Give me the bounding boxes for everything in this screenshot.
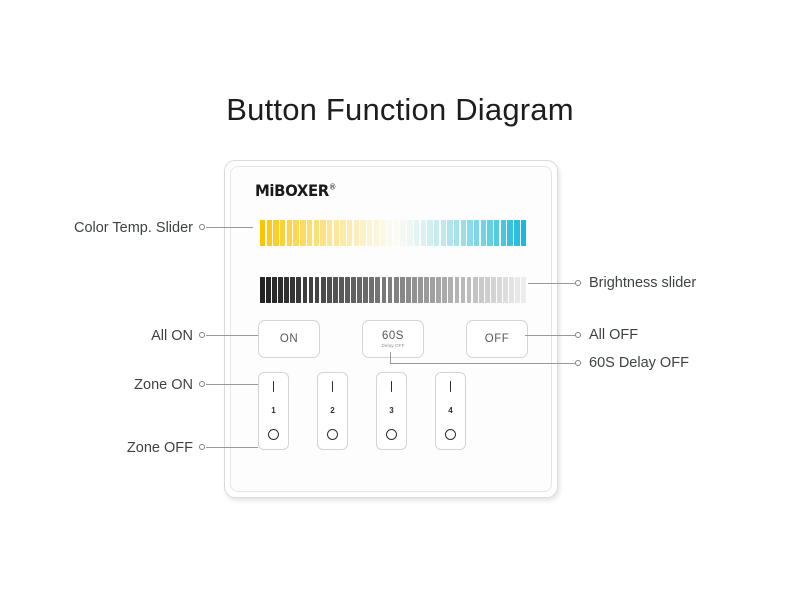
color-temp-slider-segment[interactable] xyxy=(434,220,439,246)
callout-zone-on-marker xyxy=(199,381,205,387)
all-off-button-label: OFF xyxy=(485,333,510,345)
color-temp-slider-segment[interactable] xyxy=(407,220,412,246)
brightness-slider-segment[interactable] xyxy=(442,277,447,303)
brightness-slider-segment[interactable] xyxy=(284,277,289,303)
brightness-slider-segment[interactable] xyxy=(394,277,399,303)
brightness-slider-segment[interactable] xyxy=(509,277,514,303)
color-temp-slider-segment[interactable] xyxy=(494,220,499,246)
callout-brightness-slider-label: Brightness slider xyxy=(589,275,696,291)
brightness-slider-segment[interactable] xyxy=(497,277,502,303)
color-temp-slider-segment[interactable] xyxy=(427,220,432,246)
page-title: Button Function Diagram xyxy=(0,92,800,128)
zone-on-icon[interactable] xyxy=(332,381,334,392)
zone-off-icon[interactable] xyxy=(386,429,397,440)
brightness-slider-segment[interactable] xyxy=(436,277,441,303)
callout-delay-off-leader-vertical xyxy=(390,352,391,363)
brightness-slider-segment[interactable] xyxy=(357,277,362,303)
all-on-button[interactable]: ON xyxy=(258,320,320,358)
color-temp-slider-segment[interactable] xyxy=(293,220,298,246)
brightness-slider-segment[interactable] xyxy=(272,277,277,303)
color-temp-slider-segment[interactable] xyxy=(514,220,519,246)
brightness-slider-segment[interactable] xyxy=(382,277,387,303)
brightness-slider-segment[interactable] xyxy=(448,277,453,303)
brightness-slider-segment[interactable] xyxy=(260,277,265,303)
zone-button-2[interactable]: 2 xyxy=(317,372,348,450)
callout-all-off-label: All OFF xyxy=(589,327,638,343)
zone-number-label: 1 xyxy=(271,406,275,415)
color-temp-slider-segment[interactable] xyxy=(320,220,325,246)
callout-zone-off-label: Zone OFF xyxy=(73,440,193,456)
color-temp-slider-segment[interactable] xyxy=(367,220,372,246)
color-temp-slider-segment[interactable] xyxy=(347,220,352,246)
zone-button-3[interactable]: 3 xyxy=(376,372,407,450)
color-temp-slider-segment[interactable] xyxy=(273,220,278,246)
brightness-slider-segment[interactable] xyxy=(503,277,508,303)
color-temp-slider-segment[interactable] xyxy=(340,220,345,246)
color-temp-slider-segment[interactable] xyxy=(307,220,312,246)
brightness-slider-segment[interactable] xyxy=(521,277,526,303)
brightness-slider-segment[interactable] xyxy=(369,277,374,303)
color-temp-slider-segment[interactable] xyxy=(267,220,272,246)
zone-off-icon[interactable] xyxy=(445,429,456,440)
brightness-slider-segment[interactable] xyxy=(345,277,350,303)
brightness-slider-segment[interactable] xyxy=(309,277,314,303)
all-off-button[interactable]: OFF xyxy=(466,320,528,358)
color-temp-slider-segment[interactable] xyxy=(521,220,526,246)
color-temp-slider-segment[interactable] xyxy=(387,220,392,246)
brightness-slider-segment[interactable] xyxy=(303,277,308,303)
brightness-slider-segment[interactable] xyxy=(412,277,417,303)
color-temp-slider-segment[interactable] xyxy=(394,220,399,246)
color-temp-slider-segment[interactable] xyxy=(400,220,405,246)
callout-brightness-slider-leader xyxy=(528,283,575,284)
zone-off-icon[interactable] xyxy=(327,429,338,440)
zone-number-label: 2 xyxy=(330,406,334,415)
brightness-slider[interactable] xyxy=(260,277,526,303)
all-on-button-label: ON xyxy=(280,333,298,345)
zone-on-icon[interactable] xyxy=(273,381,275,392)
color-temp-slider-segment[interactable] xyxy=(441,220,446,246)
callout-all-on-leader xyxy=(206,335,258,336)
brightness-slider-segment[interactable] xyxy=(424,277,429,303)
brightness-slider-segment[interactable] xyxy=(388,277,393,303)
color-temp-slider-segment[interactable] xyxy=(447,220,452,246)
color-temp-slider-segment[interactable] xyxy=(487,220,492,246)
callout-zone-off-marker xyxy=(199,444,205,450)
brightness-slider-segment[interactable] xyxy=(315,277,320,303)
delay-off-button-label: 60S xyxy=(382,330,404,342)
brightness-slider-segment[interactable] xyxy=(418,277,423,303)
brightness-slider-segment[interactable] xyxy=(375,277,380,303)
color-temp-slider-segment[interactable] xyxy=(507,220,512,246)
color-temp-slider-segment[interactable] xyxy=(360,220,365,246)
delay-off-button[interactable]: 60S Delay OFF xyxy=(362,320,424,358)
color-temp-slider-segment[interactable] xyxy=(334,220,339,246)
callout-delay-off-leader xyxy=(390,363,575,364)
color-temp-slider-segment[interactable] xyxy=(414,220,419,246)
color-temp-slider-segment[interactable] xyxy=(461,220,466,246)
callout-brightness-slider-marker xyxy=(575,280,581,286)
brightness-slider-segment[interactable] xyxy=(400,277,405,303)
callout-delay-off-marker xyxy=(575,360,581,366)
color-temp-slider-segment[interactable] xyxy=(467,220,472,246)
color-temp-slider-segment[interactable] xyxy=(354,220,359,246)
command-button-row: ON 60S Delay OFF OFF xyxy=(258,320,528,358)
color-temp-slider-segment[interactable] xyxy=(374,220,379,246)
color-temp-slider-segment[interactable] xyxy=(421,220,426,246)
callout-color-temp-slider-marker xyxy=(199,224,205,230)
brightness-slider-segment[interactable] xyxy=(406,277,411,303)
brightness-slider-segment[interactable] xyxy=(266,277,271,303)
zone-off-icon[interactable] xyxy=(268,429,279,440)
color-temp-slider-segment[interactable] xyxy=(454,220,459,246)
delay-off-button-sublabel: Delay OFF xyxy=(381,343,404,348)
zone-button-4[interactable]: 4 xyxy=(435,372,466,450)
brightness-slider-segment[interactable] xyxy=(491,277,496,303)
callout-all-on-marker xyxy=(199,332,205,338)
brightness-slider-segment[interactable] xyxy=(333,277,338,303)
brightness-slider-segment[interactable] xyxy=(479,277,484,303)
callout-all-off-marker xyxy=(575,332,581,338)
color-temp-slider-segment[interactable] xyxy=(260,220,265,246)
callout-all-off-leader xyxy=(525,335,575,336)
zone-button-1[interactable]: 1 xyxy=(258,372,289,450)
brightness-slider-segment[interactable] xyxy=(296,277,301,303)
device-panel: MiBOXER® ON 60S Delay OFF OFF 1 xyxy=(230,166,552,492)
color-temp-slider-segment[interactable] xyxy=(300,220,305,246)
color-temp-slider-segment[interactable] xyxy=(327,220,332,246)
color-temp-slider-segment[interactable] xyxy=(380,220,385,246)
callout-color-temp-slider-leader xyxy=(206,227,253,228)
zone-on-icon[interactable] xyxy=(450,381,452,392)
callout-delay-off-label: 60S Delay OFF xyxy=(589,355,689,371)
brightness-slider-segment[interactable] xyxy=(467,277,472,303)
color-temp-slider[interactable] xyxy=(260,220,526,246)
brightness-slider-segment[interactable] xyxy=(290,277,295,303)
color-temp-slider-segment[interactable] xyxy=(501,220,506,246)
zone-number-label: 3 xyxy=(389,406,393,415)
brightness-slider-segment[interactable] xyxy=(321,277,326,303)
zone-button-row: 1 2 3 4 xyxy=(258,372,528,450)
zone-on-icon[interactable] xyxy=(391,381,393,392)
brightness-slider-segment[interactable] xyxy=(278,277,283,303)
brightness-slider-segment[interactable] xyxy=(485,277,490,303)
brightness-slider-segment[interactable] xyxy=(363,277,368,303)
brightness-slider-segment[interactable] xyxy=(455,277,460,303)
brand-logo-text: MiBOXER xyxy=(255,181,329,200)
brightness-slider-segment[interactable] xyxy=(327,277,332,303)
brightness-slider-segment[interactable] xyxy=(430,277,435,303)
color-temp-slider-segment[interactable] xyxy=(287,220,292,246)
callout-all-on-label: All ON xyxy=(93,328,193,344)
callout-zone-on-leader xyxy=(206,384,258,385)
brightness-slider-segment[interactable] xyxy=(351,277,356,303)
brightness-slider-segment[interactable] xyxy=(339,277,344,303)
color-temp-slider-segment[interactable] xyxy=(474,220,479,246)
callout-zone-on-label: Zone ON xyxy=(78,377,193,393)
callout-zone-off-leader xyxy=(206,447,258,448)
brightness-slider-segment[interactable] xyxy=(515,277,520,303)
color-temp-slider-segment[interactable] xyxy=(314,220,319,246)
color-temp-slider-segment[interactable] xyxy=(280,220,285,246)
registered-trademark-icon: ® xyxy=(329,183,336,192)
callout-color-temp-slider-label: Color Temp. Slider xyxy=(42,220,193,236)
device-panel-outer-frame: MiBOXER® ON 60S Delay OFF OFF 1 xyxy=(224,160,558,498)
color-temp-slider-segment[interactable] xyxy=(481,220,486,246)
zone-number-label: 4 xyxy=(448,406,452,415)
brand-logo: MiBOXER® xyxy=(255,181,336,200)
brightness-slider-segment[interactable] xyxy=(461,277,466,303)
brightness-slider-segment[interactable] xyxy=(473,277,478,303)
